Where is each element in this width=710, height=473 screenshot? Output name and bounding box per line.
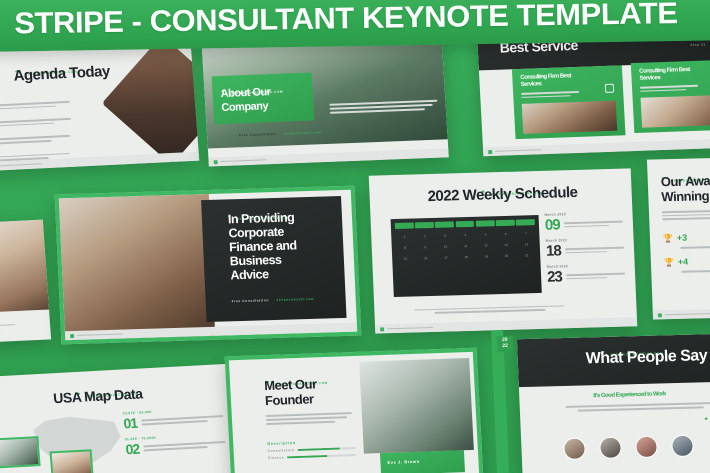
slide-schedule-title: 2022 Weekly Schedule — [427, 185, 577, 205]
experience-card-1-photo — [522, 101, 618, 134]
calendar-day[interactable]: 1 — [395, 234, 414, 239]
footer-url — [665, 313, 710, 316]
calendar-day[interactable]: 8 — [396, 245, 415, 250]
schedule-calendar[interactable]: 1 2 3 4 5 6 7 8 9 10 11 12 13 14 15 16 1 — [391, 215, 542, 297]
about-cta-label: Free Consultation — [239, 132, 277, 137]
calendar-weekday-tu — [435, 221, 454, 228]
slide-founder[interactable]: STRIPECONSULTING.COM Meet Our Founder De… — [225, 348, 484, 473]
calendar-day[interactable]: 9 — [416, 245, 435, 250]
map-stat-1-number: 02 — [125, 441, 140, 458]
schedule-event-0-day: 09 — [545, 216, 560, 233]
slide-about-title-1: About Our — [220, 87, 271, 101]
slide-award[interactable]: STRIPECONSULTING.COM Our Award Winning 🏆… — [647, 156, 710, 319]
experience-card-2[interactable]: Consulting Firm Best Services — [631, 59, 710, 133]
advice-title-4: Advice — [230, 268, 269, 283]
map-stat-0-number: 01 — [123, 415, 138, 432]
calendar-day[interactable]: 5 — [476, 232, 495, 237]
agenda-item-text — [0, 105, 56, 110]
founder-photo — [359, 358, 474, 454]
schedule-event-2-day: 23 — [547, 268, 562, 285]
slide-left-cropped[interactable] — [0, 220, 51, 345]
award-stat-1-value: +4 — [678, 257, 689, 267]
founder-progress-0-label: Consultation — [268, 448, 295, 453]
year-badge-bottom: 22 — [498, 343, 512, 349]
advice-cta-label: Free Consultation — [232, 298, 269, 303]
experience-card-2-title: Consulting Firm Best Services — [639, 66, 706, 83]
experience-card-2-photo — [641, 95, 710, 128]
agenda-item-text — [0, 140, 51, 145]
avatar[interactable] — [599, 437, 622, 460]
slide-advice[interactable]: STRIPECONSULTING.COM In Providing Corpor… — [55, 186, 362, 345]
calendar-day[interactable]: 13 — [497, 243, 516, 248]
calendar-day[interactable]: 19 — [477, 254, 496, 259]
footer-url — [77, 334, 123, 337]
calendar-day[interactable]: 16 — [416, 256, 435, 261]
avatar[interactable] — [671, 435, 694, 458]
testimonial-stars: ★ ★ ★ ★ ★ — [704, 415, 710, 422]
footer-logo-icon — [214, 160, 218, 164]
schedule-event-desc — [564, 221, 623, 224]
award-body-line — [662, 217, 710, 220]
slide-agenda-title: Agenda Today — [13, 64, 110, 85]
founder-progress-1-label: Finance — [268, 455, 284, 460]
card-body-line — [521, 91, 579, 95]
calendar-day[interactable]: 18 — [457, 255, 476, 260]
founder-name: Eve J. Brown — [387, 459, 420, 465]
footer-url — [387, 327, 433, 330]
award-stat-0-value: +3 — [677, 233, 688, 243]
cropped-photo — [0, 220, 49, 315]
calendar-weekday-we — [455, 221, 474, 228]
founder-description-label: Description — [267, 438, 355, 446]
experience-card-1-icon — [605, 84, 614, 93]
schedule-event-desc — [565, 251, 608, 254]
slide-footer — [653, 307, 710, 319]
calendar-day[interactable]: 20 — [497, 254, 516, 259]
about-cta-link[interactable]: stripeconsult.com — [284, 130, 322, 135]
slide-map[interactable]: STRIPECONSULTING.COM USA Map Data 23.97K… — [0, 364, 239, 473]
schedule-footnote — [434, 309, 545, 314]
experience-card-1-title: Consulting Firm Best Services — [520, 73, 583, 90]
calendar-weekday-sa — [516, 219, 535, 226]
map-thumb-1 — [0, 436, 41, 468]
slide-footer — [375, 317, 637, 333]
calendar-days-grid[interactable]: 1 2 3 4 5 6 7 8 9 10 11 12 13 14 15 16 1 — [395, 231, 536, 261]
footer-logo-icon — [70, 333, 74, 337]
slide-testimonial-title: What People Say — [585, 347, 707, 367]
calendar-weekday-row — [395, 219, 535, 229]
avatar[interactable] — [635, 436, 658, 459]
calendar-day[interactable]: 10 — [436, 244, 455, 249]
footer-logo-icon — [488, 149, 492, 153]
calendar-day[interactable]: 21 — [517, 253, 536, 258]
award-stat-0-caption — [680, 246, 710, 249]
experience-step-label: Step 01 — [690, 42, 706, 47]
avatar[interactable] — [563, 437, 586, 460]
award-stat-1-caption — [681, 270, 710, 273]
calendar-weekday-su — [395, 222, 414, 229]
promo-stage: STRIPECONSULTING.COM Agenda Today 01 02 … — [0, 0, 710, 473]
footer-url — [495, 149, 541, 152]
footer-url — [221, 159, 267, 162]
slide-agenda[interactable]: STRIPECONSULTING.COM Agenda Today 01 02 … — [0, 41, 199, 171]
founder-progress-0 — [297, 447, 355, 451]
agenda-photo — [102, 41, 200, 165]
page-title: STRIPE - CONSULTANT KEYNOTE TEMPLATE — [14, 0, 678, 41]
schedule-event-desc — [566, 277, 608, 280]
founder-name-panel: Eve J. Brown — [380, 450, 465, 473]
about-title-panel: STRIPECONSULTING.COM About Our Company — [212, 73, 315, 125]
slide-about[interactable]: STRIPECONSULTING.COM About Our Company F… — [201, 28, 449, 167]
agenda-item-text — [0, 122, 54, 127]
slide-testimonial[interactable]: STRIPECONSULTING.COM What People Say It'… — [517, 333, 710, 473]
slide-founder-title-2: Founder — [265, 392, 314, 408]
calendar-day[interactable]: 12 — [477, 243, 496, 248]
slide-footer — [483, 139, 710, 157]
slide-footer — [208, 148, 448, 166]
founder-progress-1 — [287, 454, 356, 458]
schedule-event-1-day: 18 — [546, 242, 561, 259]
advice-text-panel: STRIPECONSULTING.COM In Providing Corpor… — [201, 196, 346, 322]
card-body-line — [640, 85, 698, 89]
cropped-body-line — [0, 324, 15, 329]
calendar-weekday-th — [476, 220, 495, 227]
calendar-day[interactable]: 4 — [456, 233, 475, 238]
calendar-weekday-fr — [496, 220, 515, 227]
schedule-event-desc — [565, 247, 624, 250]
testimonial-quote-title: It's Good Experienced to Work — [593, 391, 666, 399]
calendar-day[interactable]: 6 — [496, 232, 515, 237]
award-body-line — [662, 213, 710, 217]
experience-card-1[interactable]: Consulting Firm Best Services — [512, 65, 626, 139]
calendar-weekday-mo — [415, 222, 434, 229]
slide-schedule[interactable]: STRIPECONSULTING.COM 2022 Weekly Schedul… — [369, 168, 638, 333]
slide-map-title: USA Map Data — [53, 386, 143, 406]
card-body-line — [640, 89, 686, 92]
schedule-event-desc — [564, 225, 609, 228]
slide-award-title-2: Winning — [661, 189, 709, 204]
footer-url — [0, 163, 42, 167]
calendar-day[interactable]: 14 — [517, 242, 536, 247]
testimonial-body-line — [578, 406, 704, 411]
map-thumb-2 — [50, 449, 94, 473]
calendar-day[interactable]: 15 — [396, 256, 415, 261]
award-body-line — [662, 209, 710, 213]
card-body-line — [521, 95, 570, 98]
footer-logo-icon — [658, 313, 662, 317]
trophy-icon: 🏆 — [664, 258, 674, 267]
advice-photo — [59, 194, 215, 340]
agenda-item-num-3: 04 — [0, 146, 84, 155]
founder-body-line — [266, 421, 335, 425]
calendar-day[interactable]: 3 — [436, 233, 455, 238]
calendar-day[interactable]: 11 — [456, 244, 475, 249]
advice-cta-link[interactable]: stripeconsult.com — [276, 297, 314, 302]
calendar-day[interactable]: 17 — [437, 255, 456, 260]
trophy-icon: 🏆 — [663, 234, 673, 243]
year-badge: 20 22 — [497, 336, 514, 352]
calendar-day[interactable]: 2 — [415, 234, 434, 239]
slide-award-title-1: Our Award — [661, 174, 710, 190]
schedule-event-desc — [566, 273, 625, 276]
calendar-day[interactable]: 7 — [517, 231, 536, 236]
footer-logo-icon — [380, 327, 384, 331]
slide-about-title-2: Company — [221, 101, 268, 115]
